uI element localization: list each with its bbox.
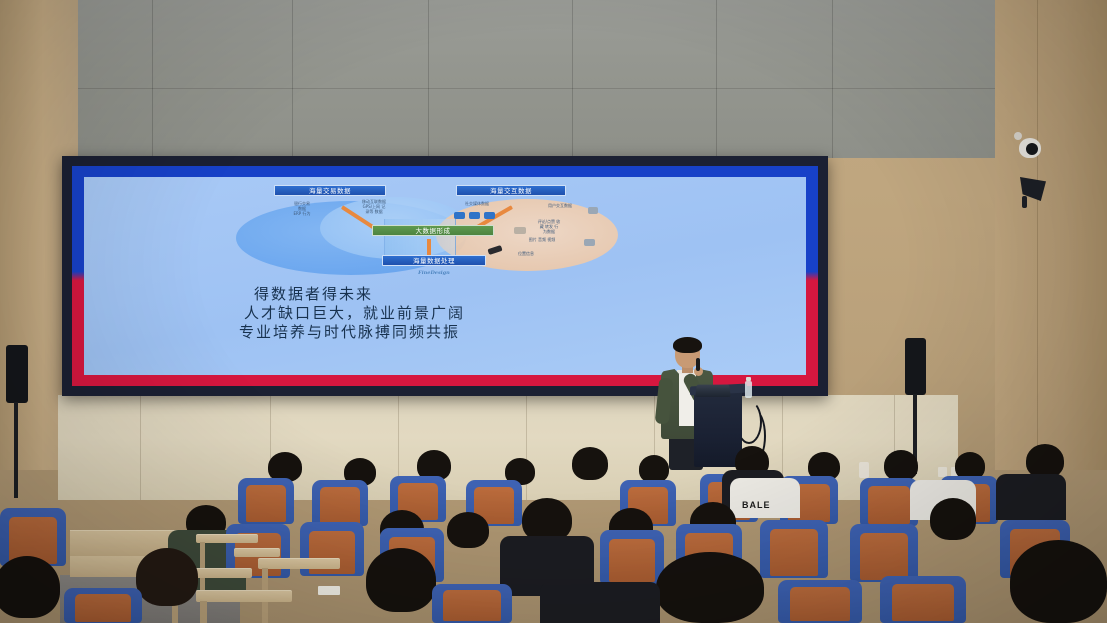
audience-head-foreground bbox=[656, 552, 764, 623]
diagram-label-bottom: 海量数据处理 bbox=[382, 255, 486, 266]
microphone-icon bbox=[696, 358, 700, 371]
left-speaker bbox=[6, 345, 28, 403]
desk-paper bbox=[318, 586, 340, 595]
audience-head bbox=[930, 498, 976, 540]
diagram-label-top-left: 海量交易数据 bbox=[274, 185, 386, 196]
satellite-icon bbox=[584, 239, 595, 246]
auditorium-seat[interactable] bbox=[850, 524, 918, 582]
facebook-icon bbox=[454, 212, 465, 219]
diagram-mini-label-right-1: 社交媒体数据 bbox=[452, 201, 502, 206]
audience-head bbox=[1026, 444, 1064, 478]
audience-person-body-foreground bbox=[540, 582, 660, 623]
slide-text-block: 得数据者得未来 人才缺口巨大，就业前景广阔 专业培养与时代脉搏同频共振 bbox=[84, 285, 806, 342]
slide-text-line-3: 专业培养与时代脉搏同频共振 bbox=[239, 323, 806, 342]
presenter-hair bbox=[673, 337, 702, 353]
slide-diagram: 银行交易 数据 ERP 行为 移动互联数据 GPS/上网 记 录等 数据 社交媒… bbox=[84, 179, 806, 283]
camera-lens-icon bbox=[1026, 143, 1038, 155]
auditorium-seat[interactable] bbox=[312, 480, 368, 526]
water-bottle-cap bbox=[746, 377, 751, 381]
wall-spotlight-stem bbox=[1022, 196, 1027, 208]
left-speaker-stand bbox=[14, 402, 18, 498]
audience-head-foreground bbox=[1010, 540, 1107, 623]
diagram-label-top-right: 海量交互数据 bbox=[456, 185, 566, 196]
diagram-mini-label-left-1: 银行交易 数据 ERP 行为 bbox=[280, 201, 324, 216]
shirt-logo-text: BALE bbox=[742, 500, 771, 510]
audience-desk bbox=[196, 590, 292, 602]
diagram-mini-label-right-3: 评论/点赞 收 藏 转发 行 为数据 bbox=[526, 219, 572, 234]
slide-text-line-1: 得数据者得未来 bbox=[254, 285, 806, 304]
desk-leg bbox=[200, 601, 207, 623]
wall-light-switch[interactable] bbox=[859, 462, 869, 478]
presenter-laptop bbox=[695, 385, 731, 397]
right-speaker bbox=[905, 338, 926, 395]
arrow-up-icon bbox=[427, 239, 431, 255]
slide-watermark: FineDesign bbox=[384, 270, 484, 276]
upper-acoustic-panel-wall bbox=[76, 0, 996, 158]
audience-person-body-white bbox=[730, 478, 800, 518]
audience-head bbox=[639, 455, 669, 483]
right-side-wall bbox=[995, 0, 1107, 470]
diagram-mini-label-right-2: 用户交互数据 bbox=[536, 203, 584, 208]
water-bottle bbox=[745, 381, 752, 398]
audience-head-foreground bbox=[0, 556, 60, 618]
weibo-icon bbox=[484, 212, 495, 219]
auditorium-seat[interactable] bbox=[778, 580, 862, 623]
audience-desk bbox=[258, 558, 340, 569]
magnifier-icon bbox=[588, 207, 598, 214]
lectern bbox=[694, 391, 742, 467]
audience-person-body bbox=[996, 474, 1066, 520]
cloud-icon bbox=[514, 227, 526, 234]
diagram-mini-label-right-5: 位置信息 bbox=[504, 251, 548, 256]
diagram-mini-label-right-4: 图片 音频 视频 bbox=[516, 237, 568, 242]
diagram-label-center: 大数据形成 bbox=[372, 225, 494, 236]
twitter-icon bbox=[469, 212, 480, 219]
audience-head-foreground bbox=[366, 548, 436, 612]
slide-text-line-2: 人才缺口巨大，就业前景广阔 bbox=[244, 304, 806, 323]
lecture-hall-photo: 银行交易 数据 ERP 行为 移动互联数据 GPS/上网 记 录等 数据 社交媒… bbox=[0, 0, 1107, 623]
diagram-mini-label-left-2: 移动互联数据 GPS/上网 记 录等 数据 bbox=[346, 199, 402, 214]
auditorium-seat[interactable] bbox=[600, 530, 664, 584]
audience-head bbox=[884, 450, 918, 481]
auditorium-seat[interactable] bbox=[880, 576, 966, 623]
audience-head bbox=[572, 447, 608, 480]
audience-desk bbox=[196, 534, 258, 543]
audience-head-foreground bbox=[136, 548, 198, 606]
auditorium-seat[interactable] bbox=[760, 520, 828, 578]
audience-desk bbox=[234, 548, 280, 557]
audience-head bbox=[447, 512, 489, 548]
auditorium-seat[interactable] bbox=[238, 478, 294, 524]
camera-mount bbox=[1014, 132, 1022, 140]
auditorium-seat[interactable] bbox=[64, 588, 142, 623]
auditorium-seat[interactable] bbox=[432, 584, 512, 623]
